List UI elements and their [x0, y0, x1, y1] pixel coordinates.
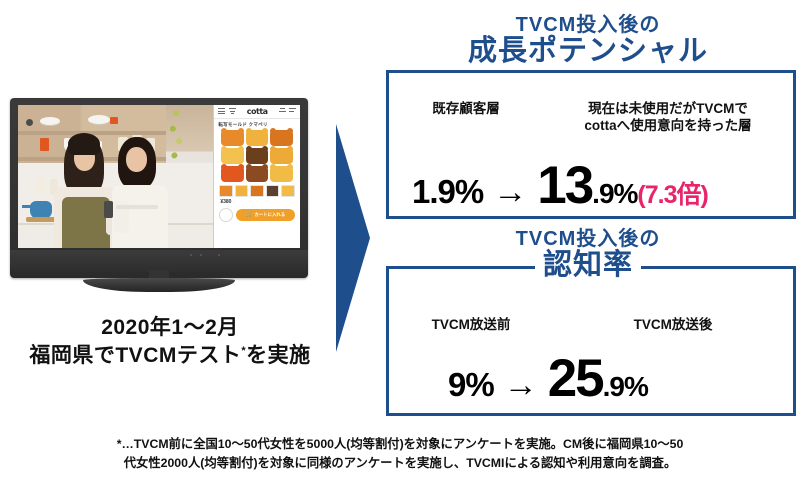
favorite-circle-icon[interactable] — [219, 208, 233, 222]
growth-after-value-dec: .9% — [592, 178, 637, 210]
growth-label-after-line1: 現在は未使用だがTVCMで — [546, 100, 790, 117]
footnote: *…TVCM前に全国10〜50代女性を5000人(均等割付)を対象にアンケートを… — [0, 435, 800, 473]
footnote-line2: 代女性2000人(均等割付)を対象に同様のアンケートを実施し、TVCMIによる認… — [0, 454, 800, 473]
growth-before-value: 1.9% — [412, 173, 483, 211]
add-to-cart-button[interactable]: 🛒 カートに入れる — [236, 209, 295, 221]
awareness-arrow-icon: → — [504, 368, 538, 402]
price-value: ¥380 — [220, 199, 231, 205]
footnote-line1: *…TVCM前に全国10〜50代女性を5000人(均等割付)を対象にアンケートを… — [0, 435, 800, 454]
kitchen-scene-photo — [18, 105, 213, 248]
awareness-label-after: TVCM放送後 — [556, 316, 790, 333]
thumbnail-strip[interactable] — [214, 182, 300, 199]
big-right-arrow-icon — [334, 122, 372, 354]
cotta-app-panel: cotta 転写モールド クマペリ — [213, 105, 300, 248]
awareness-figures: 9% → 25 .9% — [448, 355, 648, 404]
growth-label-before: 既存顧客層 — [386, 100, 546, 135]
growth-title-main: 成長ポテンシャル — [460, 36, 716, 68]
phone-prop — [104, 201, 113, 218]
awareness-column-labels: TVCM放送前 TVCM放送後 — [386, 316, 790, 333]
tv-caption-line2-pre: 福岡県でTVCMテスト — [29, 344, 241, 367]
growth-label-after-line2: cottaへ使用意向を持った層 — [546, 117, 790, 134]
thumbnail[interactable] — [235, 185, 249, 197]
tv-bezel — [10, 250, 308, 272]
hamburger-menu-icon[interactable] — [218, 108, 225, 115]
awareness-before-value: 9% — [448, 366, 494, 404]
shopping-cart-icon: 🛒 — [246, 212, 252, 218]
tv-screen: cotta 転写モールド クマペリ — [18, 105, 300, 248]
awareness-title-main: 認知率 — [535, 250, 641, 282]
thumbnail[interactable] — [266, 185, 280, 197]
growth-panel-title: TVCM投入後の 成長ポテンシャル — [386, 14, 790, 68]
thumbnail[interactable] — [281, 185, 295, 197]
tv-caption: 2020年1〜2月 福岡県でTVCMテスト*を実施 — [0, 314, 340, 370]
thumbnail[interactable] — [250, 185, 264, 197]
growth-column-labels: 既存顧客層 現在は未使用だがTVCMで cottaへ使用意向を持った層 — [386, 100, 790, 135]
growth-label-after: 現在は未使用だがTVCMで cottaへ使用意向を持った層 — [546, 100, 790, 135]
product-image-grid — [214, 130, 300, 182]
shopping-cart-icon[interactable] — [289, 108, 296, 115]
growth-figures: 1.9% → 13 .9% (7.3倍) — [412, 162, 708, 211]
cta-row: 🛒 カートに入れる — [214, 205, 300, 222]
awareness-title-sub: TVCM投入後の — [386, 228, 790, 250]
thumbnail[interactable] — [219, 185, 233, 197]
growth-arrow-icon: → — [493, 175, 527, 209]
cotta-logo: cotta — [247, 107, 268, 116]
tv-caption-line1: 2020年1〜2月 — [0, 314, 340, 342]
awareness-panel-title: TVCM投入後の 認知率 — [386, 228, 790, 282]
awareness-after-value-int: 25 — [548, 355, 603, 403]
growth-title-sub: TVCM投入後の — [386, 14, 790, 36]
tv-caption-line2: 福岡県でTVCMテスト*を実施 — [0, 342, 340, 370]
tv-illustration: cotta 転写モールド クマペリ — [10, 98, 308, 278]
growth-multiplier: (7.3倍) — [637, 175, 707, 211]
awareness-after-value-dec: .9% — [603, 371, 648, 403]
filter-icon[interactable] — [229, 108, 236, 115]
growth-after-value-int: 13 — [537, 162, 592, 210]
awareness-label-before: TVCM放送前 — [386, 316, 556, 333]
app-header: cotta — [214, 105, 300, 119]
tv-caption-line2-post: を実施 — [246, 344, 311, 367]
tv-stand-base — [83, 278, 235, 292]
user-icon[interactable] — [279, 108, 286, 115]
